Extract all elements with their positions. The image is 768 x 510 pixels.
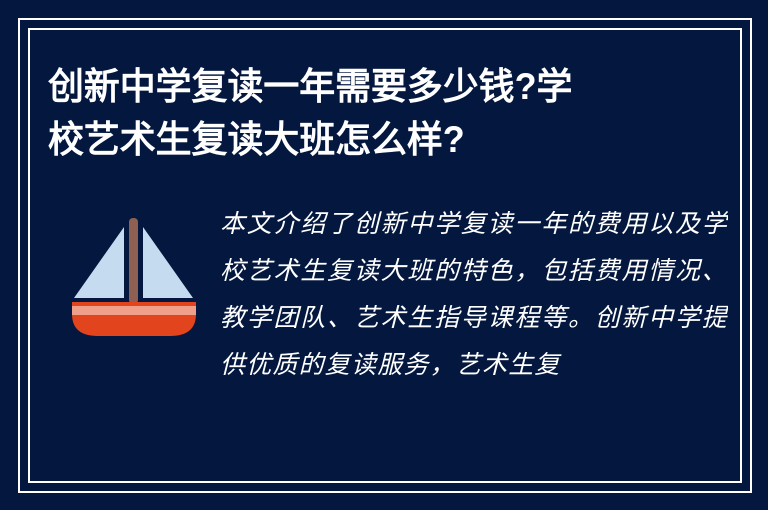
illustration-container bbox=[48, 196, 220, 340]
title-line-1: 创新中学复读一年需要多少钱?学 bbox=[48, 60, 688, 113]
page-title: 创新中学复读一年需要多少钱?学 校艺术生复读大班怎么样? bbox=[48, 60, 708, 166]
content-area: 本文介绍了创新中学复读一年的费用以及学校艺术生复读大班的特色，包括费用情况、教学… bbox=[48, 196, 728, 476]
body-paragraph: 本文介绍了创新中学复读一年的费用以及学校艺术生复读大班的特色，包括费用情况、教学… bbox=[220, 196, 728, 388]
title-line-2: 校艺术生复读大班怎么样? bbox=[48, 113, 688, 166]
sailboat-icon bbox=[66, 210, 202, 340]
poster-canvas: 创新中学复读一年需要多少钱?学 校艺术生复读大班怎么样? 本文介绍了创新中学复读… bbox=[0, 0, 768, 510]
